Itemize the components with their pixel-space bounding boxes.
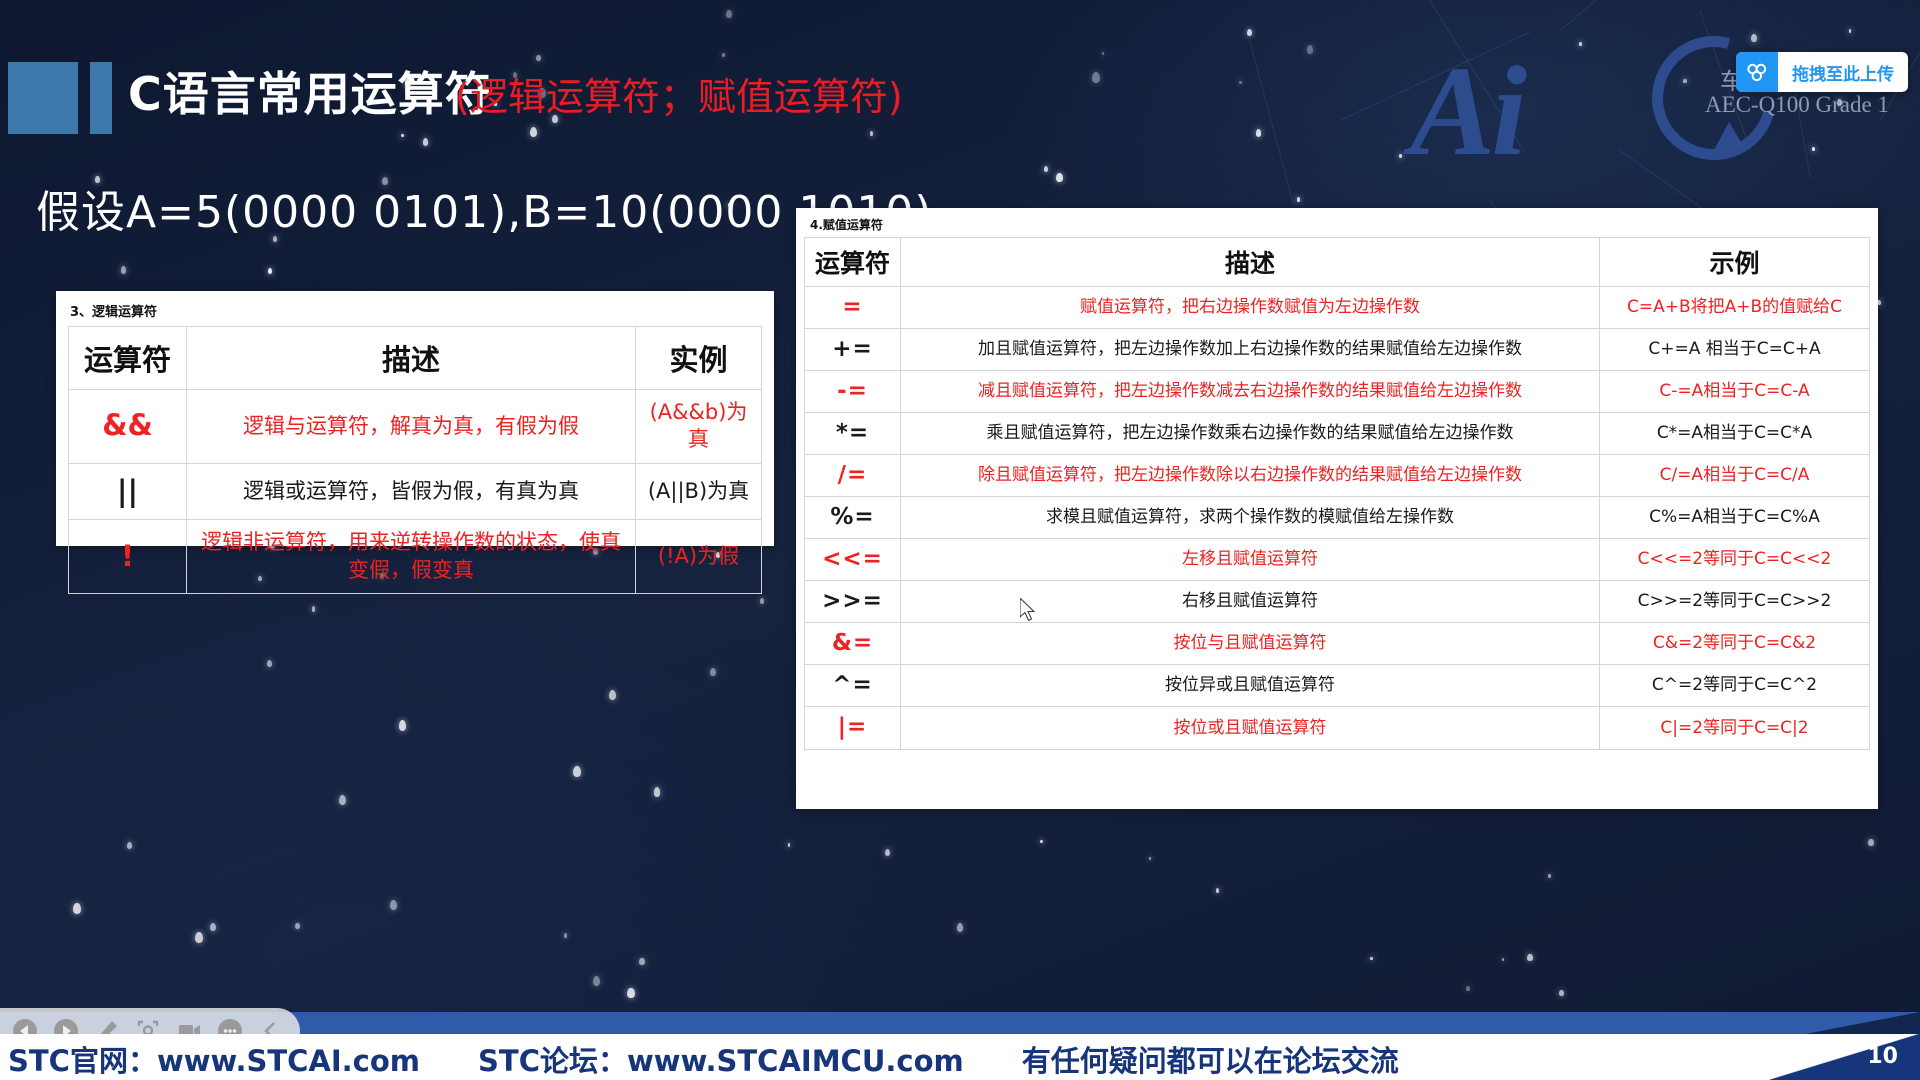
cell-description: 逻辑或运算符，皆假为假，有真为真 xyxy=(187,463,636,520)
star-particle xyxy=(722,53,725,57)
star-particle xyxy=(423,138,429,146)
star-particle xyxy=(957,923,963,931)
star-particle xyxy=(1502,958,1504,961)
star-particle xyxy=(1216,888,1219,892)
star-particle xyxy=(1149,857,1152,861)
star-particle xyxy=(1056,173,1062,182)
star-particle xyxy=(73,903,80,913)
cell-description: 赋值运算符，把右边操作数赋值为左边操作数 xyxy=(901,287,1600,329)
star-particle xyxy=(121,266,127,274)
star-particle xyxy=(1044,166,1049,173)
table-row: <<=左移且赋值运算符C<<=2等同于C=C<<2 xyxy=(805,539,1870,581)
cell-example: C-=A相当于C=C-A xyxy=(1600,371,1870,413)
cell-description: 乘且赋值运算符，把左边操作数乘右边操作数的结果赋值给左边操作数 xyxy=(901,413,1600,455)
star-particle xyxy=(268,268,272,274)
star-particle xyxy=(1868,839,1874,847)
star-particle xyxy=(654,787,661,796)
star-particle xyxy=(627,988,634,998)
star-particle xyxy=(1812,147,1815,151)
cell-description: 逻辑与运算符，解真为真，有假为假 xyxy=(187,390,636,464)
star-particle xyxy=(609,690,616,700)
footer-corner-accent xyxy=(1800,1012,1920,1035)
page-number: 10 xyxy=(1867,1044,1898,1069)
star-particle xyxy=(1849,29,1852,33)
cell-operator: ! xyxy=(69,520,187,594)
table-row: +=加且赋值运算符，把左边操作数加上右边操作数的结果赋值给左边操作数C+=A 相… xyxy=(805,329,1870,371)
cell-operator: *= xyxy=(805,413,901,455)
cell-description: 减且赋值运算符，把左边操作数减去右边操作数的结果赋值给左边操作数 xyxy=(901,371,1600,413)
cell-description: 按位或且赋值运算符 xyxy=(901,707,1600,749)
logical-table-caption: 3、逻辑运算符 xyxy=(70,301,762,320)
network-line xyxy=(1560,0,1744,31)
cell-operator: |= xyxy=(805,707,901,749)
star-particle xyxy=(1579,42,1582,47)
cell-example: C>>=2等同于C=C>>2 xyxy=(1600,581,1870,623)
column-header-operator: 运算符 xyxy=(69,327,187,390)
cell-description: 加且赋值运算符，把左边操作数加上右边操作数的结果赋值给左边操作数 xyxy=(901,329,1600,371)
star-particle xyxy=(788,843,790,846)
cell-example: (A||B)为真 xyxy=(636,463,762,520)
table-row: >>=右移且赋值运算符C>>=2等同于C=C>>2 xyxy=(805,581,1870,623)
cell-example: C<<=2等同于C=C<<2 xyxy=(1600,539,1870,581)
star-particle xyxy=(573,766,581,777)
cell-operator: ^= xyxy=(805,665,901,707)
star-particle xyxy=(536,55,540,61)
footer-links: STC官网：www.STCAI.com STC论坛：www.STCAIMCU.c… xyxy=(8,1038,1399,1080)
star-particle xyxy=(1548,874,1551,878)
table-row: ||逻辑或运算符，皆假为假，有真为真(A||B)为真 xyxy=(69,463,762,520)
cell-description: 右移且赋值运算符 xyxy=(901,581,1600,623)
footer-bar: STC官网：www.STCAI.com STC论坛：www.STCAIMCU.c… xyxy=(0,1034,1920,1080)
cell-example: C=A+B将把A+B的值赋给C xyxy=(1600,287,1870,329)
table-row: *=乘且赋值运算符，把左边操作数乘右边操作数的结果赋值给左边操作数C*=A相当于… xyxy=(805,413,1870,455)
star-particle xyxy=(267,660,272,667)
cell-example: C&=2等同于C=C&2 xyxy=(1600,623,1870,665)
star-particle xyxy=(564,933,567,938)
star-particle xyxy=(1527,954,1532,961)
cell-operator: &= xyxy=(805,623,901,665)
table-header-row: 运算符 描述 实例 xyxy=(69,327,762,390)
star-particle xyxy=(593,976,600,986)
cell-operator: /= xyxy=(805,455,901,497)
footer-item-note: 有任何疑问都可以在论坛交流 xyxy=(1022,1038,1399,1080)
column-header-description: 描述 xyxy=(901,238,1600,287)
star-particle xyxy=(1247,29,1252,36)
cell-example: (!A)为假 xyxy=(636,520,762,594)
column-header-example: 示例 xyxy=(1600,238,1870,287)
assignment-operators-card: 4.赋值运算符 运算符 描述 示例 =赋值运算符，把右边操作数赋值为左边操作数C… xyxy=(796,208,1878,809)
cell-operator: && xyxy=(69,390,187,464)
cell-description: 按位与且赋值运算符 xyxy=(901,623,1600,665)
table-row: |=按位或且赋值运算符C|=2等同于C=C|2 xyxy=(805,707,1870,749)
table-row: /=除且赋值运算符，把左边操作数除以右边操作数的结果赋值给左边操作数C/=A相当… xyxy=(805,455,1870,497)
star-particle xyxy=(1466,986,1470,991)
star-particle xyxy=(312,606,316,611)
cell-description: 按位异或且赋值运算符 xyxy=(901,665,1600,707)
star-particle xyxy=(1040,840,1042,843)
table-row: &=按位与且赋值运算符C&=2等同于C=C&2 xyxy=(805,623,1870,665)
slide-title-row: C语言常用运算符 (逻辑运算符；赋值运算符) xyxy=(0,62,1920,134)
cell-operator: += xyxy=(805,329,901,371)
star-particle xyxy=(1559,990,1564,997)
cell-description: 左移且赋值运算符 xyxy=(901,539,1600,581)
star-particle xyxy=(710,668,716,676)
star-particle xyxy=(1370,957,1372,960)
table-row: %=求模且赋值运算符，求两个操作数的模赋值给左操作数C%=A相当于C=C%A xyxy=(805,497,1870,539)
star-particle xyxy=(885,849,890,856)
star-particle xyxy=(726,10,732,18)
cell-operator: = xyxy=(805,287,901,329)
table-row: ^=按位异或且赋值运算符C^=2等同于C=C^2 xyxy=(805,665,1870,707)
column-header-description: 描述 xyxy=(187,327,636,390)
cell-example: C/=A相当于C=C/A xyxy=(1600,455,1870,497)
cell-example: C*=A相当于C=C*A xyxy=(1600,413,1870,455)
star-particle xyxy=(195,932,203,943)
star-particle xyxy=(1399,154,1402,158)
cell-example: C|=2等同于C=C|2 xyxy=(1600,707,1870,749)
star-particle xyxy=(1307,45,1313,54)
table-row: -=减且赋值运算符，把左边操作数减去右边操作数的结果赋值给左边操作数C-=A相当… xyxy=(805,371,1870,413)
cell-description: 求模且赋值运算符，求两个操作数的模赋值给左操作数 xyxy=(901,497,1600,539)
cell-example: C+=A 相当于C=C+A xyxy=(1600,329,1870,371)
table-header-row: 运算符 描述 示例 xyxy=(805,238,1870,287)
cell-operator: >>= xyxy=(805,581,901,623)
star-particle xyxy=(127,842,132,849)
star-particle xyxy=(401,134,403,137)
column-header-operator: 运算符 xyxy=(805,238,901,287)
title-accent-block-large xyxy=(8,62,78,134)
slide-canvas: Ai 车规 32位 8051 AEC-Q100 Grade 1 拖拽至此上传 C… xyxy=(0,0,1920,1080)
title-accent-block-small xyxy=(90,62,112,134)
cell-description: 逻辑非运算符，用来逆转操作数的状态，使真变假，假变真 xyxy=(187,520,636,594)
star-particle xyxy=(390,900,397,910)
logical-operators-card: 3、逻辑运算符 运算符 描述 实例 &&逻辑与运算符，解真为真，有假为假(A&&… xyxy=(56,291,774,546)
star-particle xyxy=(210,923,216,932)
column-header-example: 实例 xyxy=(636,327,762,390)
table-row: &&逻辑与运算符，解真为真，有假为假(A&&b)为真 xyxy=(69,390,762,464)
page-subtitle: (逻辑运算符；赋值运算符) xyxy=(455,66,903,121)
footer-item-forum[interactable]: STC论坛：www.STCAIMCU.com xyxy=(478,1038,964,1080)
cell-example: C^=2等同于C=C^2 xyxy=(1600,665,1870,707)
star-particle xyxy=(639,958,644,965)
table-row: =赋值运算符，把右边操作数赋值为左边操作数C=A+B将把A+B的值赋给C xyxy=(805,287,1870,329)
assign-table-caption: 4.赋值运算符 xyxy=(810,216,1870,233)
cell-operator: %= xyxy=(805,497,901,539)
star-particle xyxy=(760,598,764,603)
assignment-operators-table: 运算符 描述 示例 =赋值运算符，把右边操作数赋值为左边操作数C=A+B将把A+… xyxy=(804,237,1870,750)
star-particle xyxy=(339,795,346,805)
star-particle xyxy=(1297,197,1300,202)
cell-operator: <<= xyxy=(805,539,901,581)
footer-item-website[interactable]: STC官网：www.STCAI.com xyxy=(8,1038,420,1080)
cell-example: C%=A相当于C=C%A xyxy=(1600,497,1870,539)
star-particle xyxy=(399,720,407,731)
cell-operator: || xyxy=(69,463,187,520)
star-particle xyxy=(1102,52,1104,55)
star-particle xyxy=(295,923,300,930)
cell-example: (A&&b)为真 xyxy=(636,390,762,464)
cell-description: 除且赋值运算符，把左边操作数除以右边操作数的结果赋值给左边操作数 xyxy=(901,455,1600,497)
table-row: !逻辑非运算符，用来逆转操作数的状态，使真变假，假变真(!A)为假 xyxy=(69,520,762,594)
page-title: C语言常用运算符 xyxy=(128,58,492,124)
logical-operators-table: 运算符 描述 实例 &&逻辑与运算符，解真为真，有假为假(A&&b)为真||逻辑… xyxy=(68,326,762,594)
star-particle xyxy=(1751,34,1757,42)
cell-operator: -= xyxy=(805,371,901,413)
